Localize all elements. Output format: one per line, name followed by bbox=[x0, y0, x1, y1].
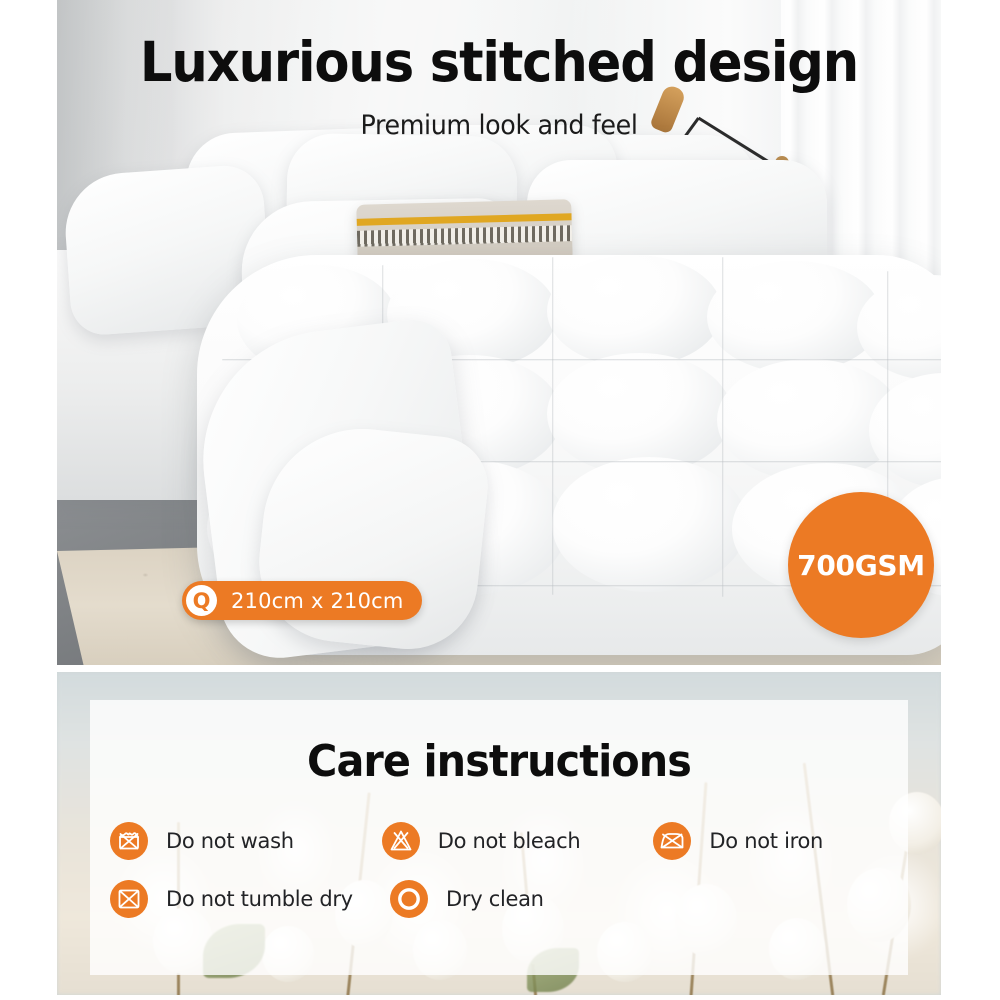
do-not-iron-icon bbox=[653, 822, 691, 860]
quilt-puff bbox=[707, 261, 882, 373]
quilt-seam bbox=[552, 257, 554, 595]
size-dimensions-label: 210cm x 210cm bbox=[231, 589, 404, 613]
do-not-wash-icon bbox=[110, 822, 148, 860]
care-item-do-not-wash: Do not wash bbox=[110, 822, 382, 860]
quilt-seam bbox=[722, 257, 724, 597]
care-item-do-not-bleach: Do not bleach bbox=[382, 822, 654, 860]
care-label: Do not tumble dry bbox=[166, 887, 353, 911]
care-item-dry-clean: Dry clean bbox=[390, 880, 670, 918]
size-badge: Q 210cm x 210cm bbox=[182, 581, 422, 620]
care-row: Do not wash Do not bleach bbox=[110, 822, 896, 860]
dry-clean-icon bbox=[390, 880, 428, 918]
size-initial-icon: Q bbox=[186, 585, 217, 616]
care-instructions-section: Care instructions Do not bbox=[57, 672, 941, 995]
do-not-tumble-dry-icon bbox=[110, 880, 148, 918]
care-label: Do not wash bbox=[166, 829, 294, 853]
care-row: Do not tumble dry Dry clean bbox=[110, 880, 896, 918]
hero-bedroom-image: Luxurious stitched design Premium look a… bbox=[57, 0, 941, 665]
care-label: Do not bleach bbox=[438, 829, 581, 853]
care-item-do-not-iron: Do not iron bbox=[653, 822, 896, 860]
page-title: Luxurious stitched design bbox=[88, 34, 910, 92]
cushion-pattern-band bbox=[357, 225, 572, 247]
care-instructions-grid: Do not wash Do not bleach bbox=[110, 822, 896, 918]
care-label: Do not iron bbox=[709, 829, 823, 853]
care-item-do-not-tumble-dry: Do not tumble dry bbox=[110, 880, 390, 918]
quilt-puff bbox=[552, 457, 747, 592]
care-instructions-title: Care instructions bbox=[115, 736, 884, 787]
care-label: Dry clean bbox=[446, 887, 544, 911]
quilt-puff bbox=[547, 255, 722, 367]
care-instructions-panel: Care instructions Do not bbox=[90, 700, 908, 975]
product-infographic-page: Luxurious stitched design Premium look a… bbox=[0, 0, 1000, 1000]
page-subtitle: Premium look and feel bbox=[84, 110, 915, 141]
gsm-value-label: 700GSM bbox=[797, 549, 925, 582]
cushion-stripe bbox=[357, 213, 572, 226]
do-not-bleach-icon bbox=[382, 822, 420, 860]
gsm-badge: 700GSM bbox=[788, 492, 934, 638]
